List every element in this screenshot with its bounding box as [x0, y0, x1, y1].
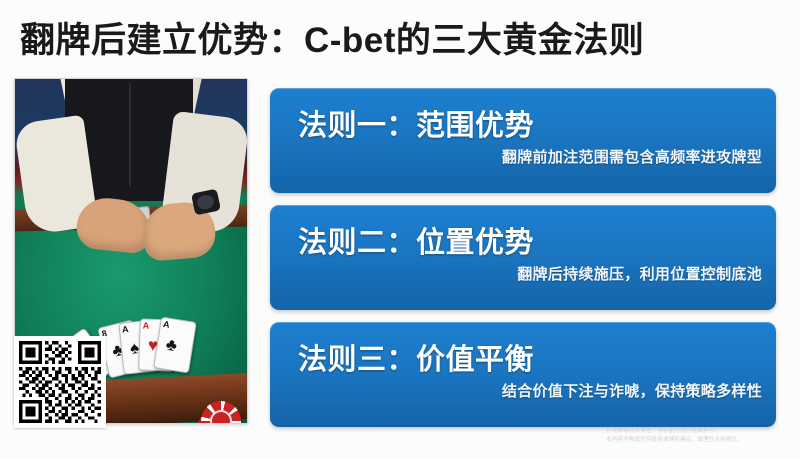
qr-code[interactable] — [14, 336, 106, 428]
card-rank: A — [122, 325, 129, 335]
page-title: 翻牌后建立优势：C-bet的三大黄金法则 — [20, 14, 780, 68]
playing-card: A ♣ — [153, 317, 197, 374]
rule-card-2[interactable]: 法则二：位置优势 翻牌后持续施压，利用位置控制底池 — [270, 205, 776, 310]
rule-heading: 法则一：范围优势 — [298, 102, 534, 144]
rule-subtitle: 翻牌后持续施压，利用位置控制底池 — [517, 263, 762, 284]
card-rank: A — [142, 321, 149, 330]
footer-disclaimer: 扑克策略仅供参考，务必量力而行谨慎参与。 本内容不构成任何投资或博彩建议，请理性… — [606, 427, 786, 445]
rule-card-1[interactable]: 法则一：范围优势 翻牌前加注范围需包含高频率进攻牌型 — [270, 88, 776, 193]
card-suit-icon: ♣ — [165, 336, 179, 355]
qr-code-icon — [19, 341, 101, 423]
rule-subtitle: 翻牌前加注范围需包含高频率进攻牌型 — [502, 146, 762, 167]
footer-line-1: 扑克策略仅供参考，务必量力而行谨慎参与。 — [606, 427, 786, 436]
rule-card-3[interactable]: 法则三：价值平衡 结合价值下注与诈唬，保持策略多样性 — [270, 322, 776, 427]
footer-line-2: 本内容不构成任何投资或博彩建议，请理性对待娱乐。 — [606, 436, 786, 445]
poster-root: 翻牌后建立优势：C-bet的三大黄金法则 2 ♦ 8 ♣ A ♠ — [0, 0, 800, 459]
rule-subtitle: 结合价值下注与诈唬，保持策略多样性 — [502, 380, 762, 401]
card-rank: A — [162, 320, 170, 330]
rule-heading: 法则二：位置优势 — [298, 219, 534, 261]
rule-heading: 法则三：价值平衡 — [298, 336, 534, 378]
rules-list: 法则一：范围优势 翻牌前加注范围需包含高频率进攻牌型 法则二：位置优势 翻牌后持… — [270, 88, 776, 439]
